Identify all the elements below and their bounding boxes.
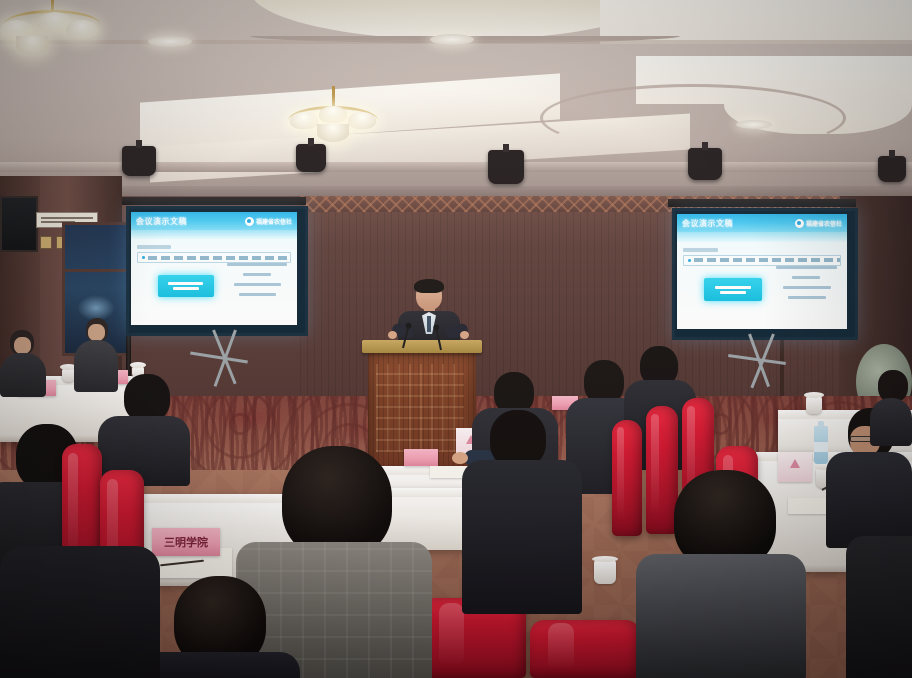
attendee-foreground-edge-right [846,536,912,678]
presenter-right-hand [460,331,469,339]
attendee-face [88,324,105,341]
attendee-face [14,337,31,354]
attendee-foreground-left [140,576,300,678]
projection-screen-right[interactable]: 会议演示文稿 福建省农信社 [672,208,852,334]
tent-sign-triangle-icon [790,459,800,468]
spotlight-fixture-icon [878,156,906,182]
slide-logo: 福建省农信社 [245,217,292,226]
attendee-torso [846,536,912,678]
teacup [806,396,822,414]
presenter-left-hand [388,331,397,339]
attendee-torso [826,452,912,548]
window-mullion [65,269,127,272]
attendee-torso [462,460,582,614]
logo-circle-icon [795,219,804,228]
slide-breadcrumb [683,248,718,252]
chandelier-shade [66,20,98,39]
name-card-sanming: 三明学院 [152,528,220,556]
attendee-torso [0,546,160,678]
slide-content-left: 会议演示文稿 福建省农信社 [131,212,297,325]
wall-switch-icon[interactable] [40,236,52,249]
screen-roller-bar [122,197,306,205]
slide-cta-button[interactable] [704,278,762,301]
attendee-torso [870,398,912,446]
wall-monitor [0,196,38,252]
screen-roller-bar [668,199,856,207]
spotlight-fixture-icon [296,144,326,172]
slide-body [131,239,297,325]
attendee-torso [636,554,806,678]
ceiling-arc-molding [540,84,846,152]
spotlight-fixture-icon [688,148,722,180]
chandelier-bowl [317,124,349,142]
downlight-icon [430,34,474,45]
attendee-left-back-2 [0,330,46,394]
attendee-foreground-far-left [0,546,160,678]
attendee-torso [140,652,300,678]
conference-hall-photo: 会议演示文稿 福建省农信社 [0,0,912,678]
attendee-head [124,374,170,422]
slide-breadcrumb [137,245,171,249]
chandelier-bowl [16,36,48,54]
bullet-icon [142,256,145,259]
chandelier-shade [290,112,318,129]
center-chandelier [288,86,378,148]
attendee-right-4 [870,370,912,442]
chair[interactable] [530,620,640,678]
spotlight-fixture-icon [122,146,156,176]
downlight-icon [736,120,772,129]
ceiling [0,0,912,200]
podium-top-surface [362,340,482,353]
chandelier-shade [319,106,347,123]
slide-header: 会议演示文稿 福建省农信社 [131,212,297,230]
downlight-icon [148,36,192,47]
slide-header: 会议演示文稿 福建省农信社 [677,214,847,232]
attendee-foreground-right [636,470,806,678]
projection-screen-left[interactable]: 会议演示文稿 福建省农信社 [126,206,302,330]
spotlight-fixture-icon [488,150,524,184]
slide-subheader [677,232,847,241]
slide-right-text-block [227,263,287,303]
slide-field-text [694,258,840,262]
attendee-foreground-center [462,410,582,610]
chandelier-shade [348,112,376,129]
teacup [594,560,616,584]
presenter-tie [427,316,431,332]
logo-text: 福建省农信社 [256,217,292,226]
slide-input-field[interactable] [683,255,841,266]
slide-subheader [131,230,297,239]
slide-field-text [148,256,290,260]
slide-cta-button[interactable] [158,275,214,297]
slide-content-right: 会议演示文稿 福建省农信社 [677,214,847,329]
slide-input-field[interactable] [137,252,291,263]
left-chandelier [4,0,100,60]
bullet-icon [688,259,691,262]
slide-title: 会议演示文稿 [682,218,733,229]
slide-logo: 福建省农信社 [795,219,842,228]
attendee-torso [0,353,46,397]
slide-body [677,242,847,329]
logo-text: 福建省农信社 [806,219,842,228]
slide-title: 会议演示文稿 [136,216,187,227]
presenter-hair [414,279,444,293]
logo-circle-icon [245,217,254,226]
slide-right-text-block [776,266,837,306]
